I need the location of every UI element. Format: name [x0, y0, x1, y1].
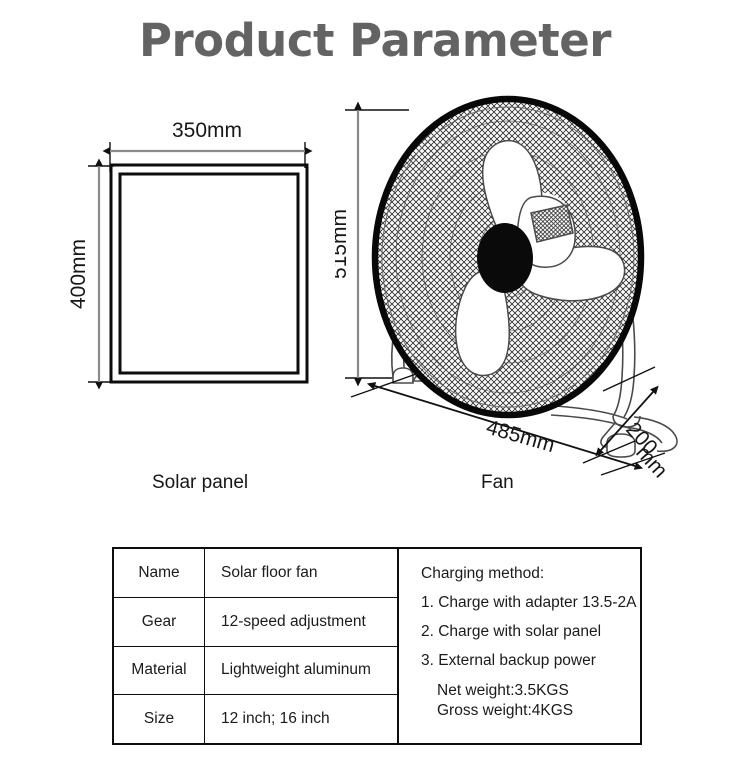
charging-method-item-1: 1. Charge with adapter 13.5-2A [421, 594, 640, 612]
fan-height-label: 515mm [335, 209, 351, 279]
specification-table: Name Solar floor fan Gear 12-speed adjus… [112, 547, 642, 745]
charging-method-item-3: 3. External backup power [421, 652, 640, 670]
solar-panel-caption: Solar panel [152, 472, 248, 494]
table-row: Name Solar floor fan [114, 549, 397, 598]
table-row: Size 12 inch; 16 inch [114, 695, 397, 743]
spec-value-material: Lightweight aluminum [205, 647, 397, 695]
net-weight: Net weight:3.5KGS [437, 681, 640, 701]
gross-weight: Gross weight:4KGS [437, 701, 640, 721]
spec-value-name: Solar floor fan [205, 549, 397, 597]
table-row: Gear 12-speed adjustment [114, 598, 397, 647]
table-row: Material Lightweight aluminum [114, 647, 397, 696]
spec-key-gear: Gear [114, 598, 205, 646]
fan-depth-dimension: 200 mm [583, 367, 672, 482]
solar-panel-outer-frame [111, 165, 307, 382]
solar-panel-svg: 350mm 400mm [70, 110, 335, 410]
spec-value-size: 12 inch; 16 inch [205, 695, 397, 743]
charging-method-item-2: 2. Charge with solar panel [421, 623, 640, 641]
spec-key-material: Material [114, 647, 205, 695]
solar-panel-diagram: 350mm 400mm [70, 110, 335, 410]
spec-left-column: Name Solar floor fan Gear 12-speed adjus… [114, 549, 399, 743]
spec-key-name: Name [114, 549, 205, 597]
charging-method-panel: Charging method: 1. Charge with adapter … [399, 549, 640, 743]
charging-method-heading: Charging method: [421, 565, 640, 583]
fan-svg: 515mm [335, 85, 695, 485]
solar-width-label: 350mm [172, 119, 242, 142]
spec-key-size: Size [114, 695, 205, 743]
spec-value-gear: 12-speed adjustment [205, 598, 397, 646]
solar-panel-inner-frame [120, 174, 298, 373]
weights-block: Net weight:3.5KGS Gross weight:4KGS [421, 681, 640, 721]
fan-width-label: 485mm [484, 416, 558, 457]
solar-height-label: 400mm [70, 239, 90, 309]
fan-hub [477, 223, 533, 293]
fan-diagram: 515mm [335, 85, 695, 485]
page-title: Product Parameter [0, 14, 750, 67]
fan-illustration [375, 99, 677, 457]
fan-caption: Fan [481, 472, 514, 494]
